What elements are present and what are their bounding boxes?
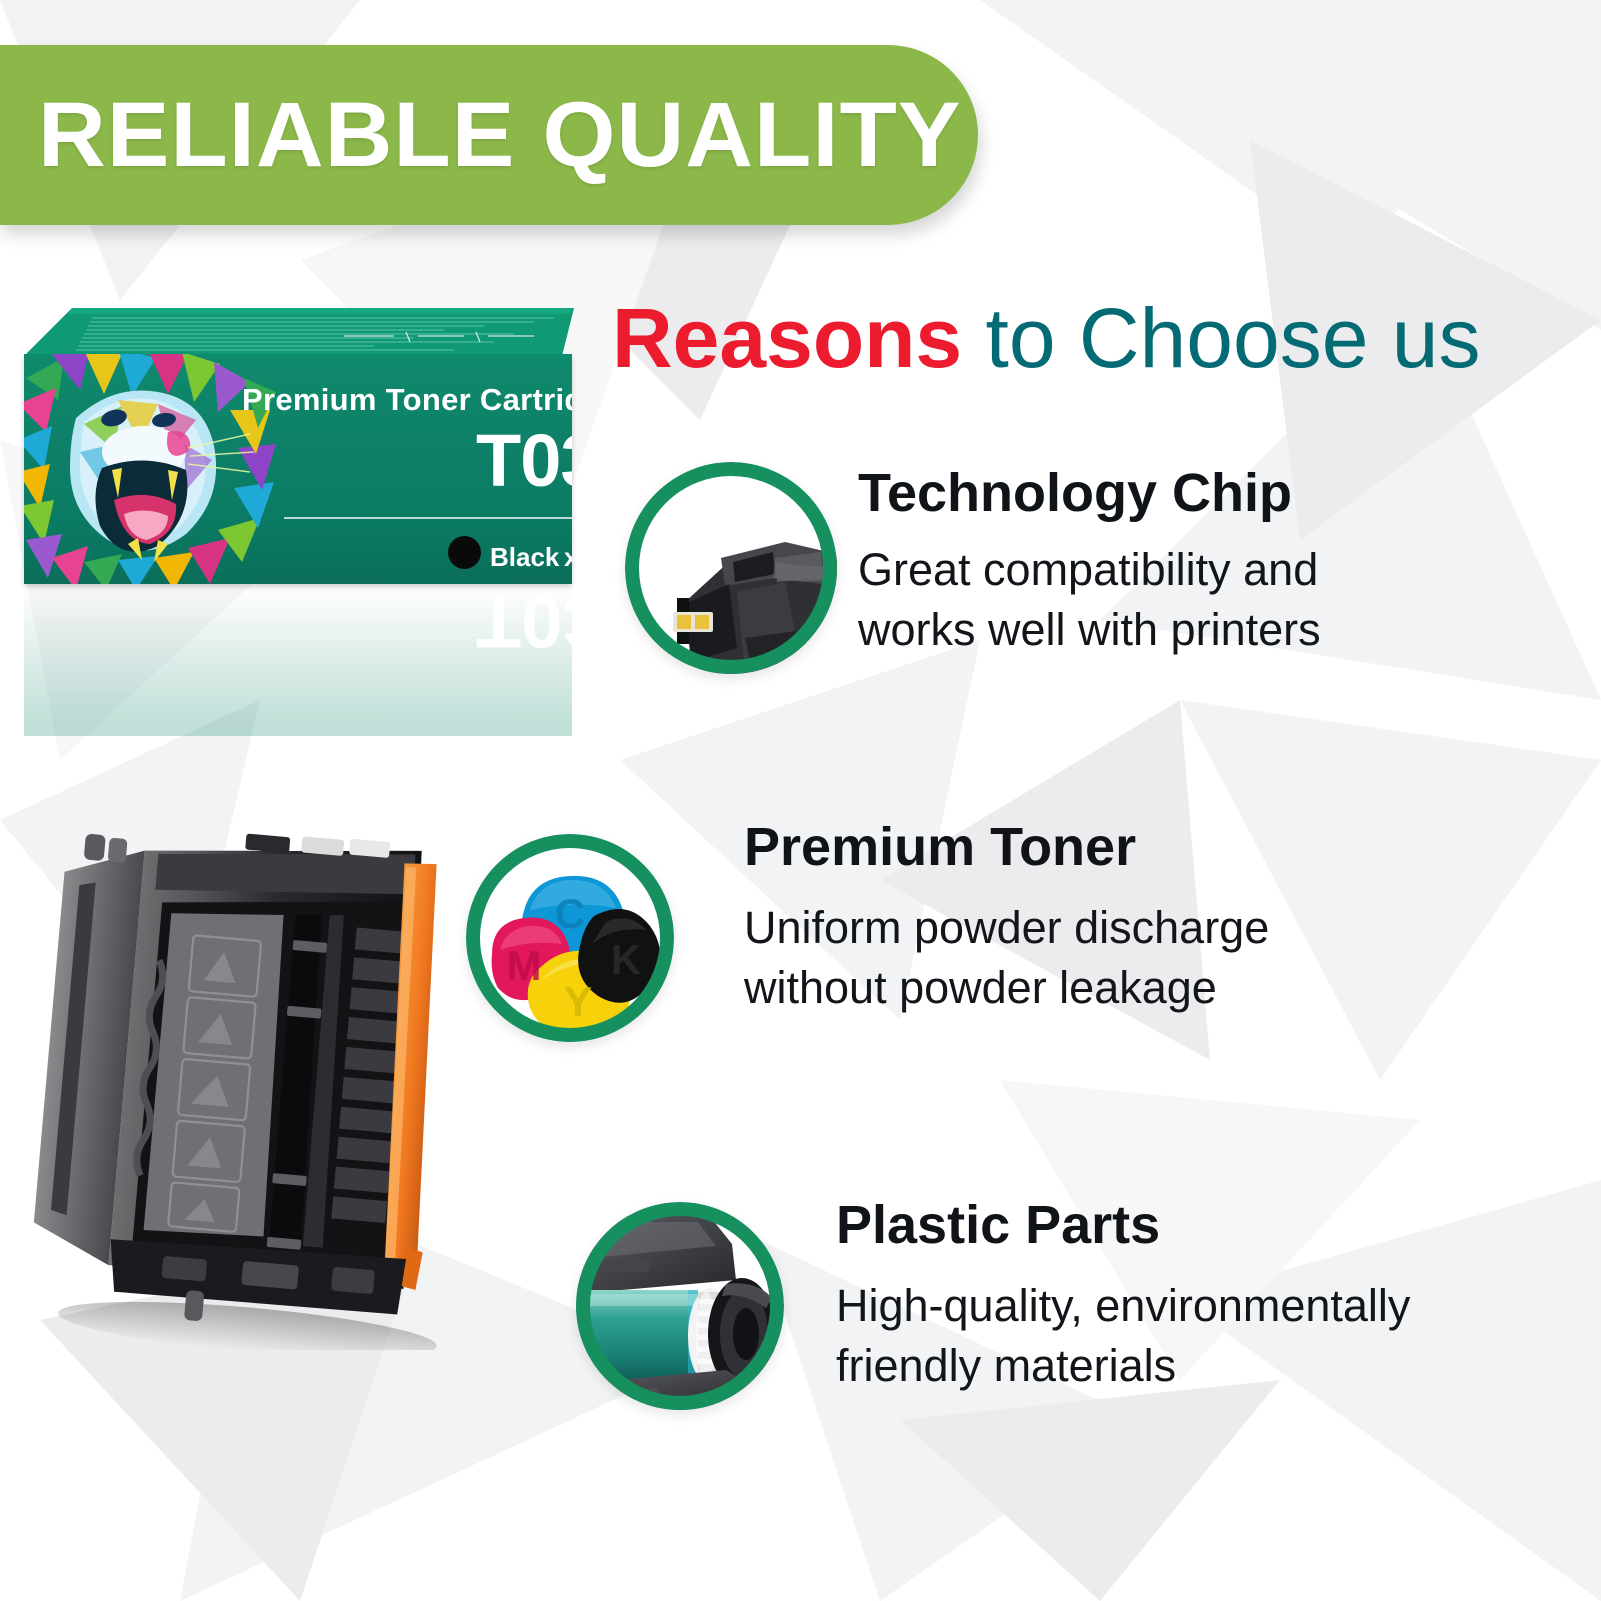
toner-box-package: Premium Toner Cartridge T03 Black x1 T03… (14, 306, 574, 706)
feature-description: High-quality, environmentally friendly m… (836, 1276, 1536, 1397)
toner-cartridge-photo (30, 790, 500, 1350)
feature-title: Plastic Parts (836, 1194, 1160, 1256)
svg-text:K: K (611, 936, 641, 983)
package-divider (284, 517, 572, 519)
page-title-emphasis: Reasons (612, 291, 962, 385)
feature-desc-line-2: without powder leakage (744, 958, 1384, 1018)
feature-description: Uniform powder discharge without powder … (744, 898, 1384, 1019)
package-model: T03 (476, 426, 572, 496)
lion-artwork-icon (24, 354, 278, 584)
toner-chip-icon (625, 462, 837, 674)
package-front-face: Premium Toner Cartridge T03 Black x1 (24, 354, 572, 584)
opc-drum-plastic-parts-icon (576, 1202, 784, 1410)
feature-desc-line-1: High-quality, environmentally (836, 1276, 1536, 1336)
svg-text:Y: Y (564, 978, 592, 1025)
banner-label: RELIABLE QUALITY (38, 83, 961, 188)
package-title: Premium Toner Cartridge (242, 382, 572, 418)
feature-title: Technology Chip (858, 462, 1292, 524)
feature-desc-line-2: friendly materials (836, 1336, 1536, 1396)
package-quantity: x1 (564, 542, 572, 573)
feature-desc-line-1: Great compatibility and (858, 540, 1458, 600)
feature-desc-line-2: works well with printers (858, 600, 1458, 660)
svg-text:M: M (507, 942, 542, 989)
feature-desc-line-1: Uniform powder discharge (744, 898, 1384, 958)
feature-title: Premium Toner (744, 816, 1136, 878)
cmyk-toner-powder-icon: C M Y K (466, 834, 674, 1042)
feature-description: Great compatibility and works well with … (858, 540, 1458, 661)
svg-text:C: C (555, 890, 585, 937)
page-title-rest: to Choose us (962, 291, 1480, 385)
black-color-dot-icon (448, 536, 481, 569)
package-reflection: T03 Black x1 (24, 586, 572, 736)
package-top-panel (14, 306, 574, 358)
package-color-name: Black (490, 542, 559, 573)
page-title: Reasons to Choose us (612, 296, 1480, 380)
reliable-quality-banner: RELIABLE QUALITY (0, 45, 978, 225)
